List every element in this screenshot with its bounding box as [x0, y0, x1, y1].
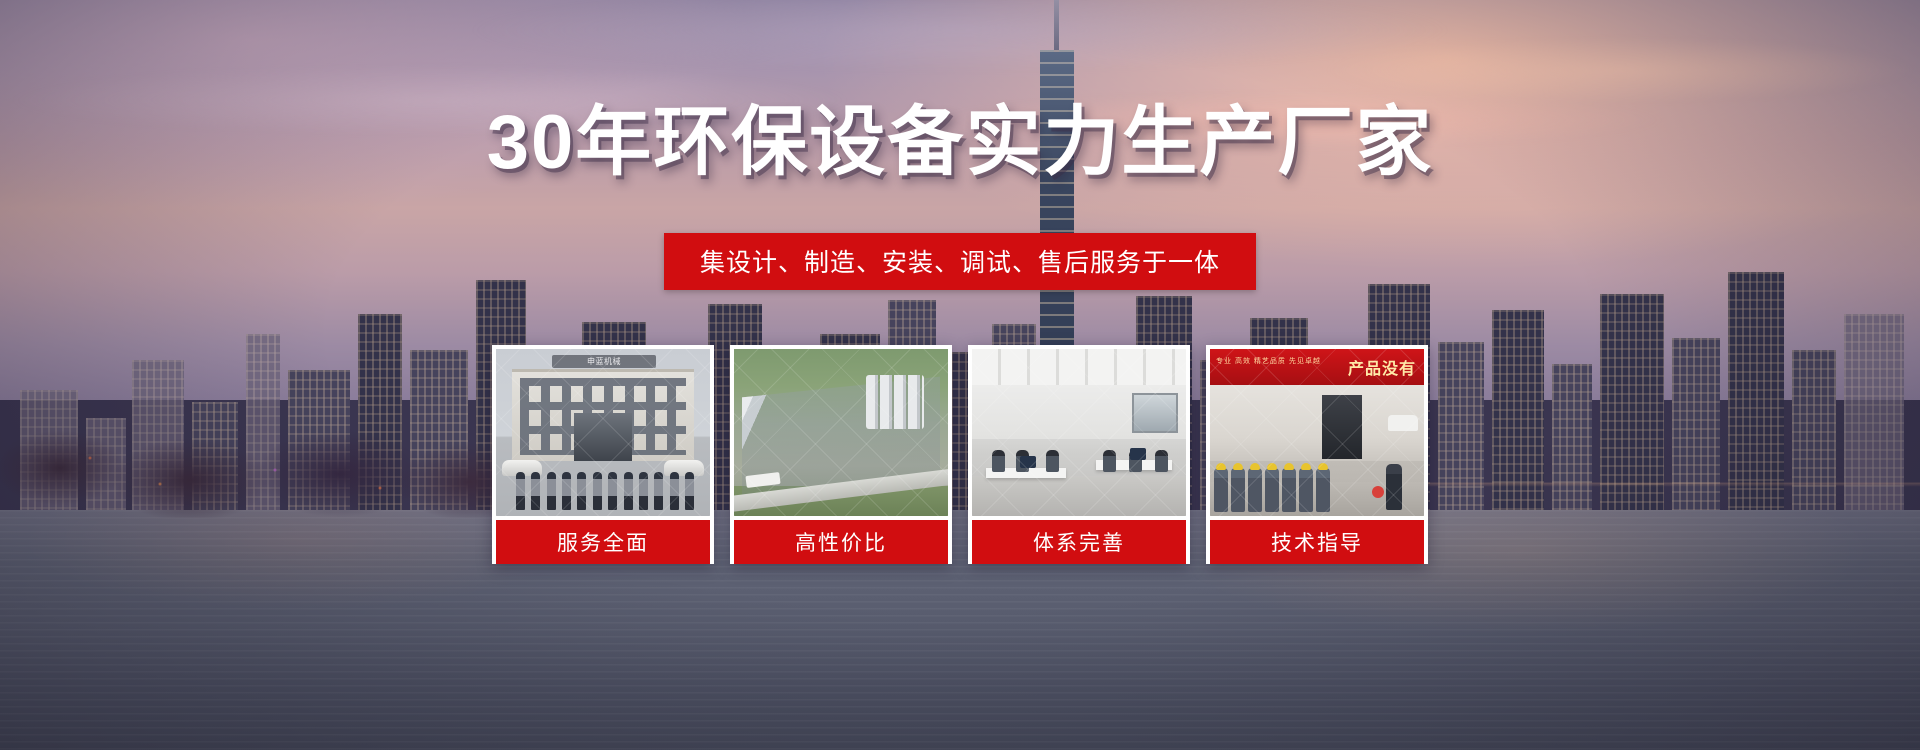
feature-card[interactable]: 专业 高效 精艺品质 先见卓越 产品没有 技术指导 — [1206, 345, 1428, 564]
workshop-banner-text: 产品没有 — [1210, 349, 1424, 385]
banner-content: 30年环保设备实力生产厂家 集设计、制造、安装、调试、售后服务于一体 申蓝机械 — [0, 0, 1920, 750]
feature-card[interactable]: 高性价比 — [730, 345, 952, 564]
card-photo-workshop-workers: 专业 高效 精艺品质 先见卓越 产品没有 — [1210, 349, 1424, 516]
banner-headline: 30年环保设备实力生产厂家 — [0, 105, 1920, 181]
feature-card[interactable]: 申蓝机械 服务全面 — [492, 345, 714, 564]
card-photo-office-interior — [972, 349, 1186, 516]
feature-card-row: 申蓝机械 服务全面 — [0, 345, 1920, 564]
card-label: 服务全面 — [496, 520, 710, 564]
card-label: 体系完善 — [972, 520, 1186, 564]
card-photo-office-building: 申蓝机械 — [496, 349, 710, 516]
card-label: 高性价比 — [734, 520, 948, 564]
card-photo-industrial-plant — [734, 349, 948, 516]
hero-banner: 30年环保设备实力生产厂家 集设计、制造、安装、调试、售后服务于一体 申蓝机械 — [0, 0, 1920, 750]
feature-card[interactable]: 体系完善 — [968, 345, 1190, 564]
workshop-red-banner: 专业 高效 精艺品质 先见卓越 产品没有 — [1210, 349, 1424, 385]
banner-subtitle-row: 集设计、制造、安装、调试、售后服务于一体 — [0, 233, 1920, 290]
card-label: 技术指导 — [1210, 520, 1424, 564]
banner-subtitle: 集设计、制造、安装、调试、售后服务于一体 — [664, 233, 1256, 290]
building-sign-text: 申蓝机械 — [552, 354, 656, 368]
